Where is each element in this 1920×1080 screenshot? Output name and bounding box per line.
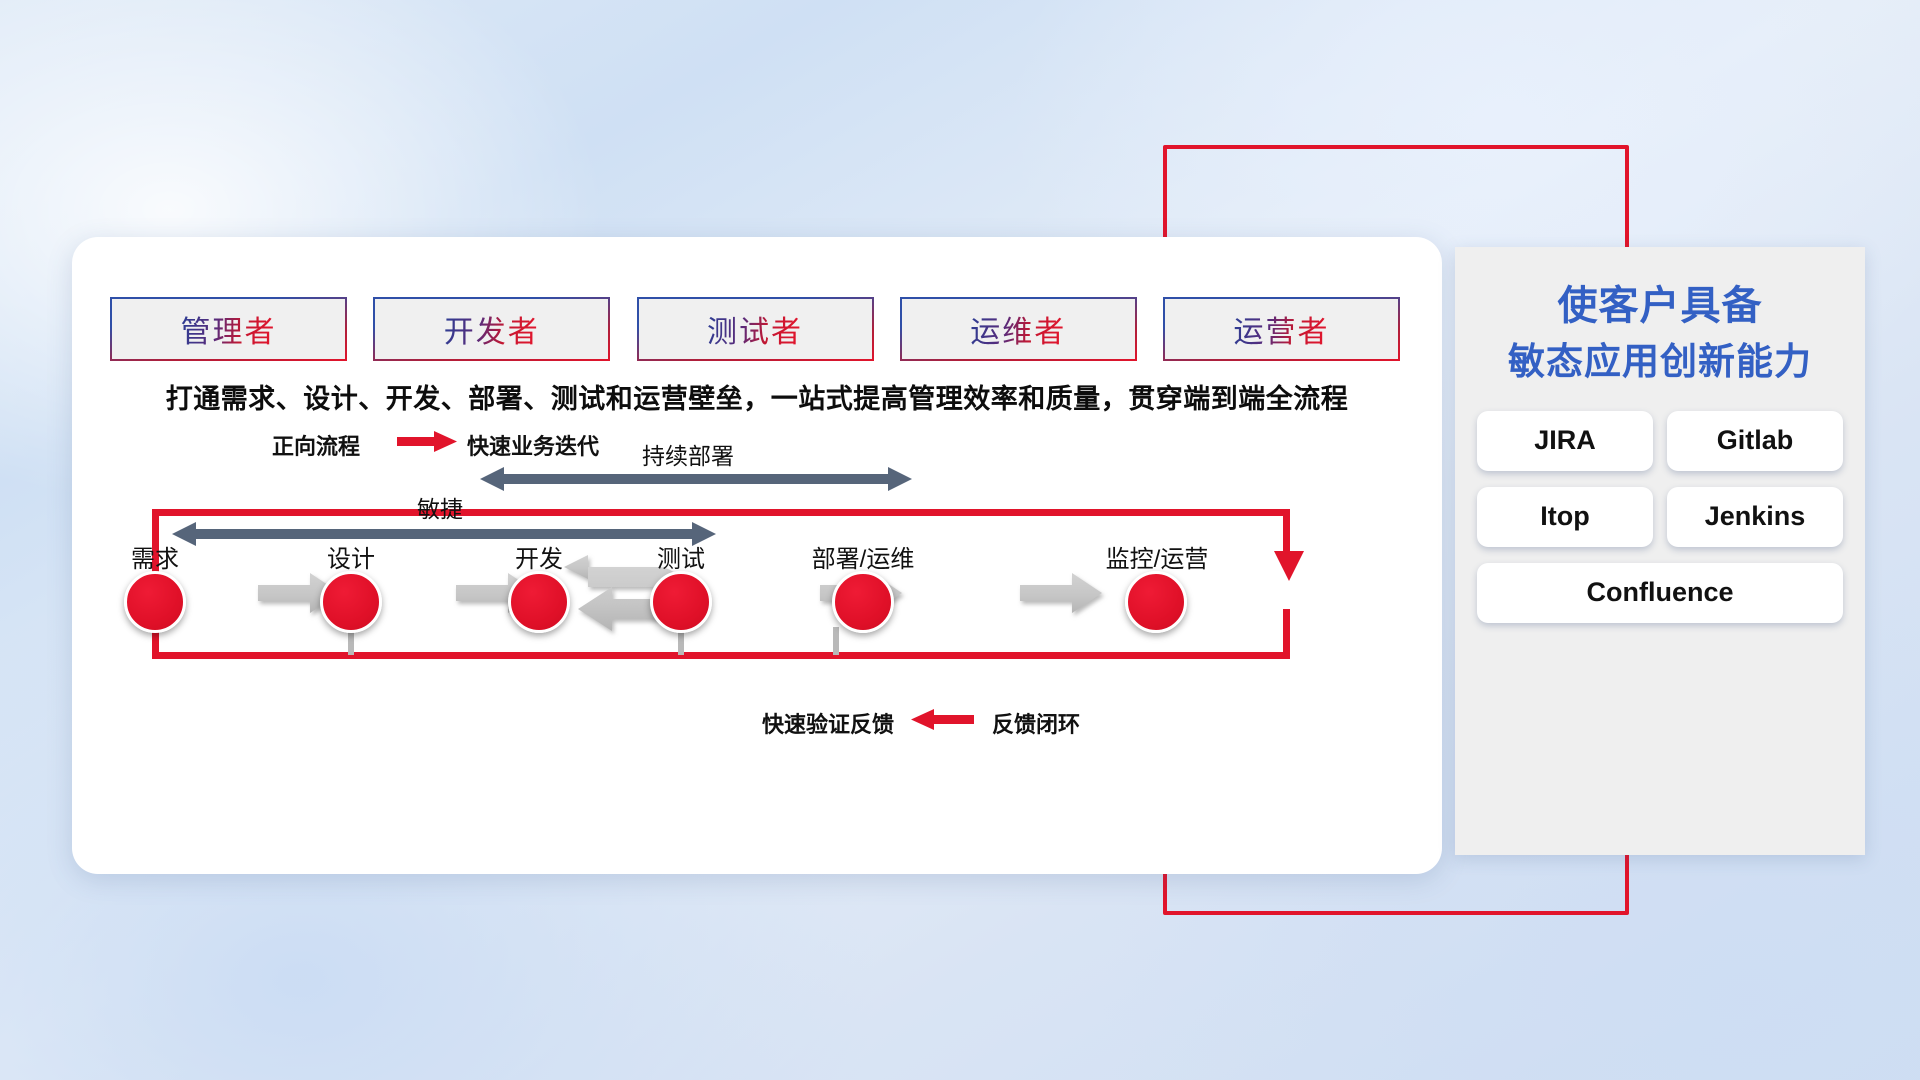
node-circle-design[interactable] <box>320 571 382 633</box>
agile-label: 敏捷 <box>417 490 463 524</box>
node-circle-deploy-ops[interactable] <box>832 571 894 633</box>
panel-title-line1: 使客户具备 <box>1455 277 1865 335</box>
feedback-result-label: 快速验证反馈 <box>762 707 894 739</box>
continuous-deploy-label: 持续部署 <box>642 437 734 471</box>
role-label: 运维者 <box>970 307 1066 351</box>
value-proposition-panel: 使客户具备 敏态应用创新能力 JIRA Gitlab Itop Jenkins … <box>1455 247 1865 855</box>
forward-flow-arrow-icon <box>397 431 457 452</box>
node-circle-develop[interactable] <box>508 571 570 633</box>
tool-item-jenkins[interactable]: Jenkins <box>1667 487 1843 547</box>
tool-item-jira[interactable]: JIRA <box>1477 411 1653 471</box>
main-diagram-card: 管理者 开发者 测试者 运维者 运营者 打通需求、设计、开发、部署、测试和运营壁… <box>72 237 1442 874</box>
role-label: 管理者 <box>181 307 277 351</box>
forward-flow-result-label: 快速业务迭代 <box>467 429 599 461</box>
node-label-test: 测试 <box>621 539 741 574</box>
node-label-develop: 开发 <box>479 539 599 574</box>
forward-flow-label: 正向流程 <box>272 429 360 461</box>
role-label: 测试者 <box>707 307 803 351</box>
node-label-monitor-operations: 监控/运营 <box>1072 539 1242 574</box>
node-label-deploy-ops: 部署/运维 <box>783 539 943 574</box>
role-label: 开发者 <box>444 307 540 351</box>
node-label-requirement: 需求 <box>95 539 215 574</box>
node-circle-monitor-operations[interactable] <box>1125 571 1187 633</box>
block-arrow-5 <box>1020 573 1102 613</box>
tool-list: JIRA Gitlab Itop Jenkins Confluence <box>1455 411 1865 623</box>
node-label-design: 设计 <box>291 539 411 574</box>
tool-item-confluence[interactable]: Confluence <box>1477 563 1843 623</box>
slide-background: 管理者 开发者 测试者 运维者 运营者 打通需求、设计、开发、部署、测试和运营壁… <box>0 0 1920 1080</box>
panel-title: 使客户具备 敏态应用创新能力 <box>1455 247 1865 389</box>
tool-item-itop[interactable]: Itop <box>1477 487 1653 547</box>
role-label: 运营者 <box>1234 307 1330 351</box>
node-circle-requirement[interactable] <box>124 571 186 633</box>
node-stems <box>348 627 839 655</box>
node-circle-test[interactable] <box>650 571 712 633</box>
panel-title-line2: 敏态应用创新能力 <box>1455 335 1865 389</box>
feedback-loop-arrow-icon <box>911 709 974 730</box>
tool-item-gitlab[interactable]: Gitlab <box>1667 411 1843 471</box>
feedback-loop-label: 反馈闭环 <box>992 707 1080 739</box>
